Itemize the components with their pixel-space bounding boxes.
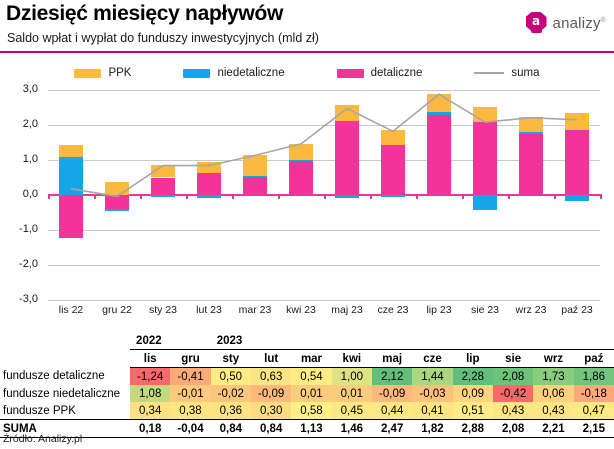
table-cell: -0,42 <box>493 385 533 402</box>
table-year-header-2023: 2023 <box>211 332 614 350</box>
table-year-row: 20222023 <box>0 332 614 350</box>
x-axis-label: paź 23 <box>561 304 593 316</box>
table-summary-cell: 0,84 <box>251 420 291 438</box>
y-axis-tick-label: 1,0 <box>0 153 38 165</box>
table-summary-cell: 1,13 <box>291 420 331 438</box>
table-cell: -0,41 <box>170 368 210 386</box>
table-cell: 0,01 <box>332 385 372 402</box>
table-cell: 1,86 <box>574 368 614 386</box>
table-cell: 0,09 <box>453 385 493 402</box>
y-axis-tick-label: -3,0 <box>0 293 38 305</box>
table-cell: 1,44 <box>412 368 452 386</box>
table-row-label: fundusze PPK <box>0 402 130 420</box>
table-summary-cell: 2,21 <box>533 420 573 438</box>
legend-label: PPK <box>108 67 131 79</box>
table-summary-cell: 0,84 <box>211 420 251 438</box>
y-axis-tick-label: -2,0 <box>0 258 38 270</box>
table-cell: 1,08 <box>130 385 170 402</box>
logo-trademark: ® <box>601 17 606 24</box>
table-row-label: fundusze detaliczne <box>0 368 130 386</box>
suma-line-series <box>48 90 600 300</box>
table-cell: 0,50 <box>211 368 251 386</box>
table-cell: 0,63 <box>251 368 291 386</box>
y-axis-tick-label: -1,0 <box>0 223 38 235</box>
chart-plot: 3,02,01,00,0-1,0-2,0-3,0lis 22gru 22sty … <box>48 90 600 300</box>
table-cell: 0,43 <box>533 402 573 420</box>
logo-wordmark: analizy® <box>553 15 606 32</box>
table-month-row: lisgrustylutmarkwimajczelipsiewrzpaź <box>0 350 614 368</box>
legend-line-suma <box>474 72 504 74</box>
table-month-row-label-cell <box>0 350 130 368</box>
table-cell: -0,18 <box>574 385 614 402</box>
table-row: fundusze detaliczne-1,24-0,410,500,630,5… <box>0 368 614 386</box>
table-cell: 0,58 <box>291 402 331 420</box>
table-month-header: sie <box>493 350 533 368</box>
legend-swatch-niedetaliczne <box>183 69 210 78</box>
table-cell: 0,51 <box>453 402 493 420</box>
table-month-header: gru <box>170 350 210 368</box>
table-cell: -1,24 <box>130 368 170 386</box>
source-note: Źródło: Analizy.pl <box>3 433 82 445</box>
table-body: fundusze detaliczne-1,24-0,410,500,630,5… <box>0 368 614 438</box>
x-axis-label: lis 22 <box>59 304 84 316</box>
legend-label: suma <box>511 67 539 79</box>
legend-item-detaliczne[interactable]: detaliczne <box>337 67 423 79</box>
table-corner-cell <box>0 332 130 350</box>
suma-polyline <box>71 94 577 196</box>
table-month-header: cze <box>412 350 452 368</box>
x-axis-label: mar 23 <box>239 304 272 316</box>
analizy-logo: a analizy® <box>526 10 606 36</box>
table-summary-cell: 0,18 <box>130 420 170 438</box>
chart-area: 3,02,01,00,0-1,0-2,0-3,0lis 22gru 22sty … <box>0 86 614 326</box>
table-summary-cell: 2,15 <box>574 420 614 438</box>
data-table-wrap: 20222023 lisgrustylutmarkwimajczelipsiew… <box>0 332 614 438</box>
table-cell: 2,08 <box>493 368 533 386</box>
x-axis-label: wrz 23 <box>516 304 547 316</box>
x-axis-label: sie 23 <box>471 304 499 316</box>
table-cell: 0,41 <box>412 402 452 420</box>
table-summary-cell: 2,08 <box>493 420 533 438</box>
legend-item-suma[interactable]: suma <box>474 67 539 79</box>
table-cell: 1,73 <box>533 368 573 386</box>
header-divider <box>0 51 614 53</box>
table-cell: -0,09 <box>372 385 412 402</box>
logo-letter: a <box>526 12 547 31</box>
x-axis-label: gru 22 <box>102 304 132 316</box>
table-row: fundusze niedetaliczne1,08-0,01-0,02-0,0… <box>0 385 614 402</box>
table-cell: 0,47 <box>574 402 614 420</box>
table-summary-cell: 2,47 <box>372 420 412 438</box>
legend-item-niedetaliczne[interactable]: niedetaliczne <box>183 67 284 79</box>
chart-legend: PPKniedetalicznedetalicznesuma <box>0 62 614 84</box>
table-cell: 0,38 <box>170 402 210 420</box>
table-year-header-2022: 2022 <box>130 332 211 350</box>
x-axis-label: lut 23 <box>196 304 222 316</box>
legend-label: detaliczne <box>371 67 423 79</box>
logo-octagon-icon: a <box>526 12 547 34</box>
table-month-header: lut <box>251 350 291 368</box>
x-axis-label: cze 23 <box>378 304 409 316</box>
table-summary-cell: 1,46 <box>332 420 372 438</box>
table-cell: 0,30 <box>251 402 291 420</box>
table-cell: 2,28 <box>453 368 493 386</box>
table-cell: -0,01 <box>170 385 210 402</box>
y-axis-tick-label: 3,0 <box>0 83 38 95</box>
table-cell: 0,01 <box>291 385 331 402</box>
page-title: Dziesięć miesięcy napływów <box>6 2 283 26</box>
table-cell: -0,09 <box>251 385 291 402</box>
table-cell: 0,36 <box>211 402 251 420</box>
table-summary-cell: -0,04 <box>170 420 210 438</box>
chart-header: Dziesięć miesięcy napływów Saldo wpłat i… <box>0 0 614 52</box>
table-cell: 0,54 <box>291 368 331 386</box>
legend-label: niedetaliczne <box>217 67 284 79</box>
table-row-label: fundusze niedetaliczne <box>0 385 130 402</box>
x-axis-label: kwi 23 <box>286 304 316 316</box>
x-axis-label: maj 23 <box>331 304 363 316</box>
table-cell: 1,00 <box>332 368 372 386</box>
table-summary-cell: 1,82 <box>412 420 452 438</box>
table-cell: 0,45 <box>332 402 372 420</box>
x-axis-label: sty 23 <box>149 304 177 316</box>
legend-swatch-detaliczne <box>337 69 364 78</box>
logo-wordmark-text: analizy <box>553 15 601 32</box>
table-summary-cell: 2,88 <box>453 420 493 438</box>
gridline <box>48 300 600 301</box>
table-month-header: maj <box>372 350 412 368</box>
y-axis-tick-label: 2,0 <box>0 118 38 130</box>
legend-swatch-ppk <box>74 69 101 78</box>
y-axis-tick-label: 0,0 <box>0 188 38 200</box>
table-month-header: mar <box>291 350 331 368</box>
legend-item-ppk[interactable]: PPK <box>74 67 131 79</box>
x-axis-label: lip 23 <box>426 304 451 316</box>
page-subtitle: Saldo wpłat i wypłat do funduszy inwesty… <box>7 31 319 45</box>
table-cell: 0,34 <box>130 402 170 420</box>
table-cell: -0,03 <box>412 385 452 402</box>
table-month-header: lis <box>130 350 170 368</box>
table-summary-row: SUMA0,18-0,040,840,841,131,462,471,822,8… <box>0 420 614 438</box>
table-head: 20222023 lisgrustylutmarkwimajczelipsiew… <box>0 332 614 368</box>
table-month-header: sty <box>211 350 251 368</box>
table-month-header: lip <box>453 350 493 368</box>
table-month-header: kwi <box>332 350 372 368</box>
table-cell: 0,43 <box>493 402 533 420</box>
table-cell: -0,02 <box>211 385 251 402</box>
table-month-header: paź <box>574 350 614 368</box>
data-table: 20222023 lisgrustylutmarkwimajczelipsiew… <box>0 332 614 438</box>
x-axis-tickmark <box>600 194 602 199</box>
table-cell: 0,06 <box>533 385 573 402</box>
table-month-header: wrz <box>533 350 573 368</box>
table-row: fundusze PPK0,340,380,360,300,580,450,44… <box>0 402 614 420</box>
table-cell: 0,44 <box>372 402 412 420</box>
table-cell: 2,12 <box>372 368 412 386</box>
